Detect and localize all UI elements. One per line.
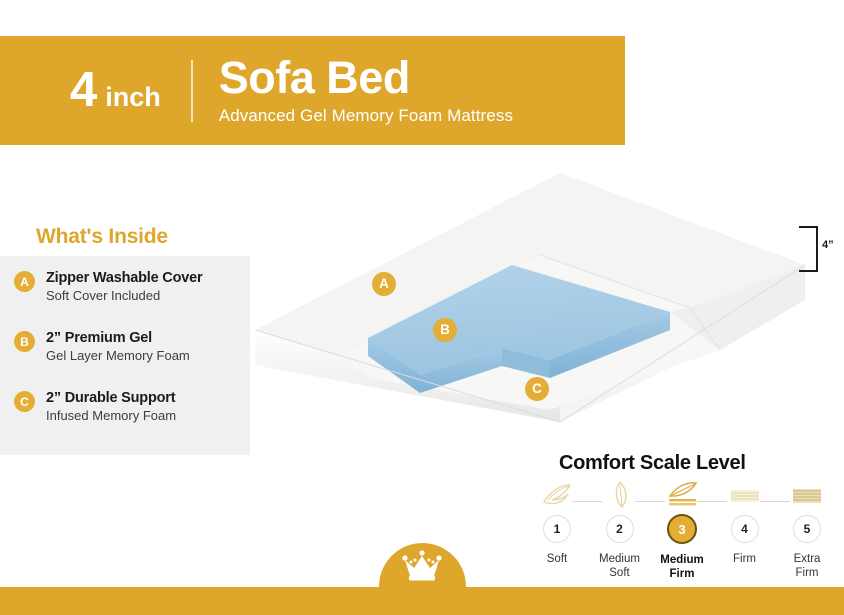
marker-b: B [433,318,457,342]
header-text-group: Sofa Bed Advanced Gel Memory Foam Mattre… [219,55,513,126]
item-description: Infused Memory Foam [46,408,240,424]
marker-a: A [372,272,396,296]
whats-inside-panel: A Zipper Washable Cover Soft Cover Inclu… [0,256,250,455]
crown-icon [398,549,446,582]
comfort-label-3: MediumFirm [660,553,703,582]
layers-dense-icon [791,478,823,510]
comfort-scale-row: 1 Soft 2 MediumSoft [528,478,836,582]
product-title: Sofa Bed [219,55,513,101]
item-badge-a: A [14,271,35,292]
comfort-label-2: MediumSoft [599,552,640,581]
marker-c: C [525,377,549,401]
comfort-step-5[interactable]: 5 ExtraFirm [778,478,836,581]
header-banner: 4 inch Sofa Bed Advanced Gel Memory Foam… [0,36,625,145]
comfort-label-5: ExtraFirm [794,552,821,581]
product-subtitle: Advanced Gel Memory Foam Mattress [219,107,513,126]
comfort-number-3: 3 [667,514,697,544]
infographic-canvas: 4 inch Sofa Bed Advanced Gel Memory Foam… [0,0,844,615]
list-item: B 2” Premium Gel Gel Layer Memory Foam [14,330,240,376]
header-size: 4 inch [70,66,161,115]
header-divider [191,60,193,122]
item-description: Gel Layer Memory Foam [46,348,240,364]
item-badge-b: B [14,331,35,352]
header-size-unit: inch [105,84,161,111]
comfort-scale: 1 Soft 2 MediumSoft [528,478,836,583]
comfort-scale-title: Comfort Scale Level [559,452,746,475]
comfort-label-1: Soft [547,552,567,566]
comfort-number-4: 4 [731,515,759,543]
header-size-number: 4 [70,66,96,115]
comfort-connector-2 [635,501,665,502]
list-item: C 2” Durable Support Infused Memory Foam [14,390,240,436]
comfort-step-3[interactable]: 3 MediumFirm [653,478,711,582]
list-item: A Zipper Washable Cover Soft Cover Inclu… [14,270,240,316]
whats-inside-list: A Zipper Washable Cover Soft Cover Inclu… [14,270,240,450]
mattress-illustration [250,160,810,460]
feather-icon [607,478,633,510]
feather-on-layers-icon [665,478,699,510]
item-heading: 2” Premium Gel [46,330,240,347]
comfort-step-4[interactable]: 4 Firm [716,478,774,566]
comfort-number-2: 2 [606,515,634,543]
comfort-number-5: 5 [793,515,821,543]
footer-bar [0,587,844,615]
comfort-connector-4 [760,501,790,502]
comfort-label-4: Firm [733,552,756,566]
item-heading: Zipper Washable Cover [46,270,240,287]
whats-inside-title: What's Inside [36,225,168,249]
item-heading: 2” Durable Support [46,390,240,407]
header-content: 4 inch Sofa Bed Advanced Gel Memory Foam… [70,36,513,145]
feather-curled-icon [540,478,574,510]
item-description: Soft Cover Included [46,288,240,304]
depth-bracket-icon [799,226,818,272]
comfort-connector-3 [697,501,727,502]
comfort-number-1: 1 [543,515,571,543]
depth-label: 4” [822,239,834,251]
layers-light-icon [729,478,761,510]
comfort-step-1[interactable]: 1 Soft [528,478,586,566]
comfort-connector-1 [572,501,602,502]
item-badge-c: C [14,391,35,412]
comfort-step-2[interactable]: 2 MediumSoft [591,478,649,581]
